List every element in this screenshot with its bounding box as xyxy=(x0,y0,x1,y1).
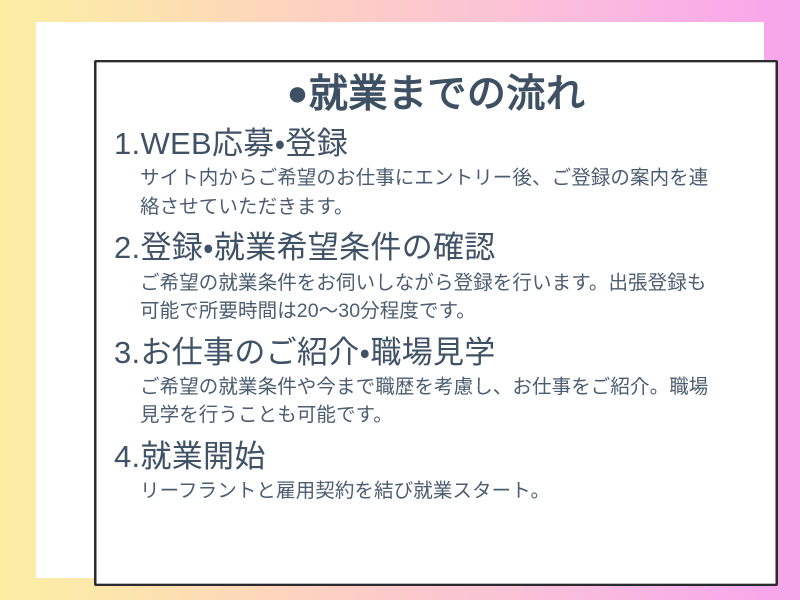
white-mat: ●就業までの流れ 1.WEB応募・登録 サイト内からご希望のお仕事にエントリー後… xyxy=(36,22,764,578)
step-body-line: ご希望の就業条件をお伺いしながら登録を行います。出張登録も xyxy=(140,269,758,297)
step-body-2: ご希望の就業条件をお伺いしながら登録を行います。出張登録も 可能で所要時間は20… xyxy=(114,269,758,326)
step-body-line: 絡させていただきます。 xyxy=(140,193,758,221)
step-body-line: サイト内からご希望のお仕事にエントリー後、ご登録の案内を連 xyxy=(140,164,758,192)
bullet-icon: ● xyxy=(287,72,309,113)
step-body-3: ご希望の就業条件や今まで職歴を考慮し、お仕事をご紹介。職場 見学を行うことも可能… xyxy=(114,373,758,430)
poster-content: ●就業までの流れ 1.WEB応募・登録 サイト内からご希望のお仕事にエントリー後… xyxy=(96,62,776,584)
step-body-line: 可能で所要時間は20～30分程度です。 xyxy=(140,297,758,325)
step-item-1: 1.WEB応募・登録 サイト内からご希望のお仕事にエントリー後、ご登録の案内を連… xyxy=(114,123,758,221)
poster-gradient-frame: ●就業までの流れ 1.WEB応募・登録 サイト内からご希望のお仕事にエントリー後… xyxy=(0,0,800,600)
step-item-2: 2.登録・就業希望条件の確認 ご希望の就業条件をお伺いしながら登録を行います。出… xyxy=(114,227,758,325)
sketch-outline-box: ●就業までの流れ 1.WEB応募・登録 サイト内からご希望のお仕事にエントリー後… xyxy=(94,60,778,586)
step-heading-3: 3.お仕事のご紹介・職場見学 xyxy=(114,332,758,373)
steps-list: 1.WEB応募・登録 サイト内からご希望のお仕事にエントリー後、ご登録の案内を連… xyxy=(114,123,758,505)
step-body-line: リーフラントと雇用契約を結び就業スタート。 xyxy=(140,477,758,505)
step-heading-2: 2.登録・就業希望条件の確認 xyxy=(114,227,758,268)
step-heading-4: 4.就業開始 xyxy=(114,436,758,477)
page-title: ●就業までの流れ xyxy=(114,72,758,117)
step-body-4: リーフラントと雇用契約を結び就業スタート。 xyxy=(114,477,758,505)
step-body-line: 見学を行うことも可能です。 xyxy=(140,401,758,429)
step-item-4: 4.就業開始 リーフラントと雇用契約を結び就業スタート。 xyxy=(114,436,758,506)
page-title-text: 就業までの流れ xyxy=(309,73,586,116)
step-body-1: サイト内からご希望のお仕事にエントリー後、ご登録の案内を連 絡させていただきます… xyxy=(114,164,758,221)
step-heading-1: 1.WEB応募・登録 xyxy=(114,123,758,164)
step-item-3: 3.お仕事のご紹介・職場見学 ご希望の就業条件や今まで職歴を考慮し、お仕事をご紹… xyxy=(114,332,758,430)
step-body-line: ご希望の就業条件や今まで職歴を考慮し、お仕事をご紹介。職場 xyxy=(140,373,758,401)
